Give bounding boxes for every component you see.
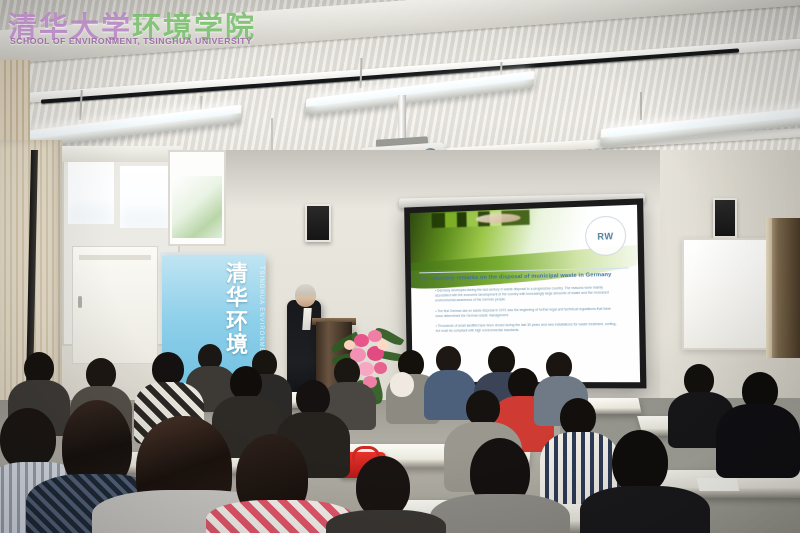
- audience-torso: [326, 510, 446, 533]
- flower: [354, 334, 369, 347]
- flower: [344, 340, 355, 350]
- audience-head: [152, 352, 184, 386]
- audience-head: [356, 456, 410, 518]
- lecture-hall-photo: RW Introductory remarks on the disposal …: [0, 0, 800, 533]
- audience-torso: [430, 494, 570, 533]
- audience-head: [466, 390, 500, 426]
- audience-head-light: [390, 372, 414, 397]
- window-header: [62, 146, 182, 162]
- banner-chinese-text: 清华环境: [220, 262, 254, 357]
- slide-bullet: • The first German law on waste disposal…: [435, 306, 617, 319]
- slide-logo-text: RW: [585, 231, 625, 242]
- presenter-shirt: [302, 308, 312, 330]
- window-view-foliage: [172, 176, 222, 238]
- window-pane: [68, 162, 114, 224]
- flower: [374, 362, 387, 374]
- side-door[interactable]: [72, 246, 158, 364]
- audience-torso: [716, 404, 800, 478]
- audience-head: [230, 366, 262, 400]
- paper-sheet: [697, 478, 740, 491]
- slide-bullet: • Thousands of small landfills have been…: [436, 322, 618, 334]
- audience-head: [488, 346, 515, 375]
- slide-body: • Germany developed during the last cent…: [435, 285, 618, 339]
- audience-head: [436, 346, 461, 373]
- window-pane: [120, 166, 172, 228]
- audience-head: [0, 408, 56, 470]
- audience-head: [296, 380, 330, 416]
- wall-speaker-left: [305, 204, 331, 242]
- door-handle[interactable]: [78, 296, 82, 308]
- flower: [377, 340, 388, 350]
- lamp-hanger: [640, 92, 642, 120]
- slide-bullet: • Germany developed during the last cent…: [435, 285, 617, 304]
- audience-head: [560, 398, 596, 436]
- whiteboard: [682, 238, 770, 350]
- audience-head: [612, 430, 668, 494]
- audience-torso: [580, 486, 710, 533]
- flower: [358, 362, 374, 376]
- projector-pole: [398, 95, 406, 143]
- presenter-head: [295, 284, 316, 307]
- wall-speaker-right: [713, 198, 737, 238]
- open-doorway[interactable]: [766, 218, 800, 358]
